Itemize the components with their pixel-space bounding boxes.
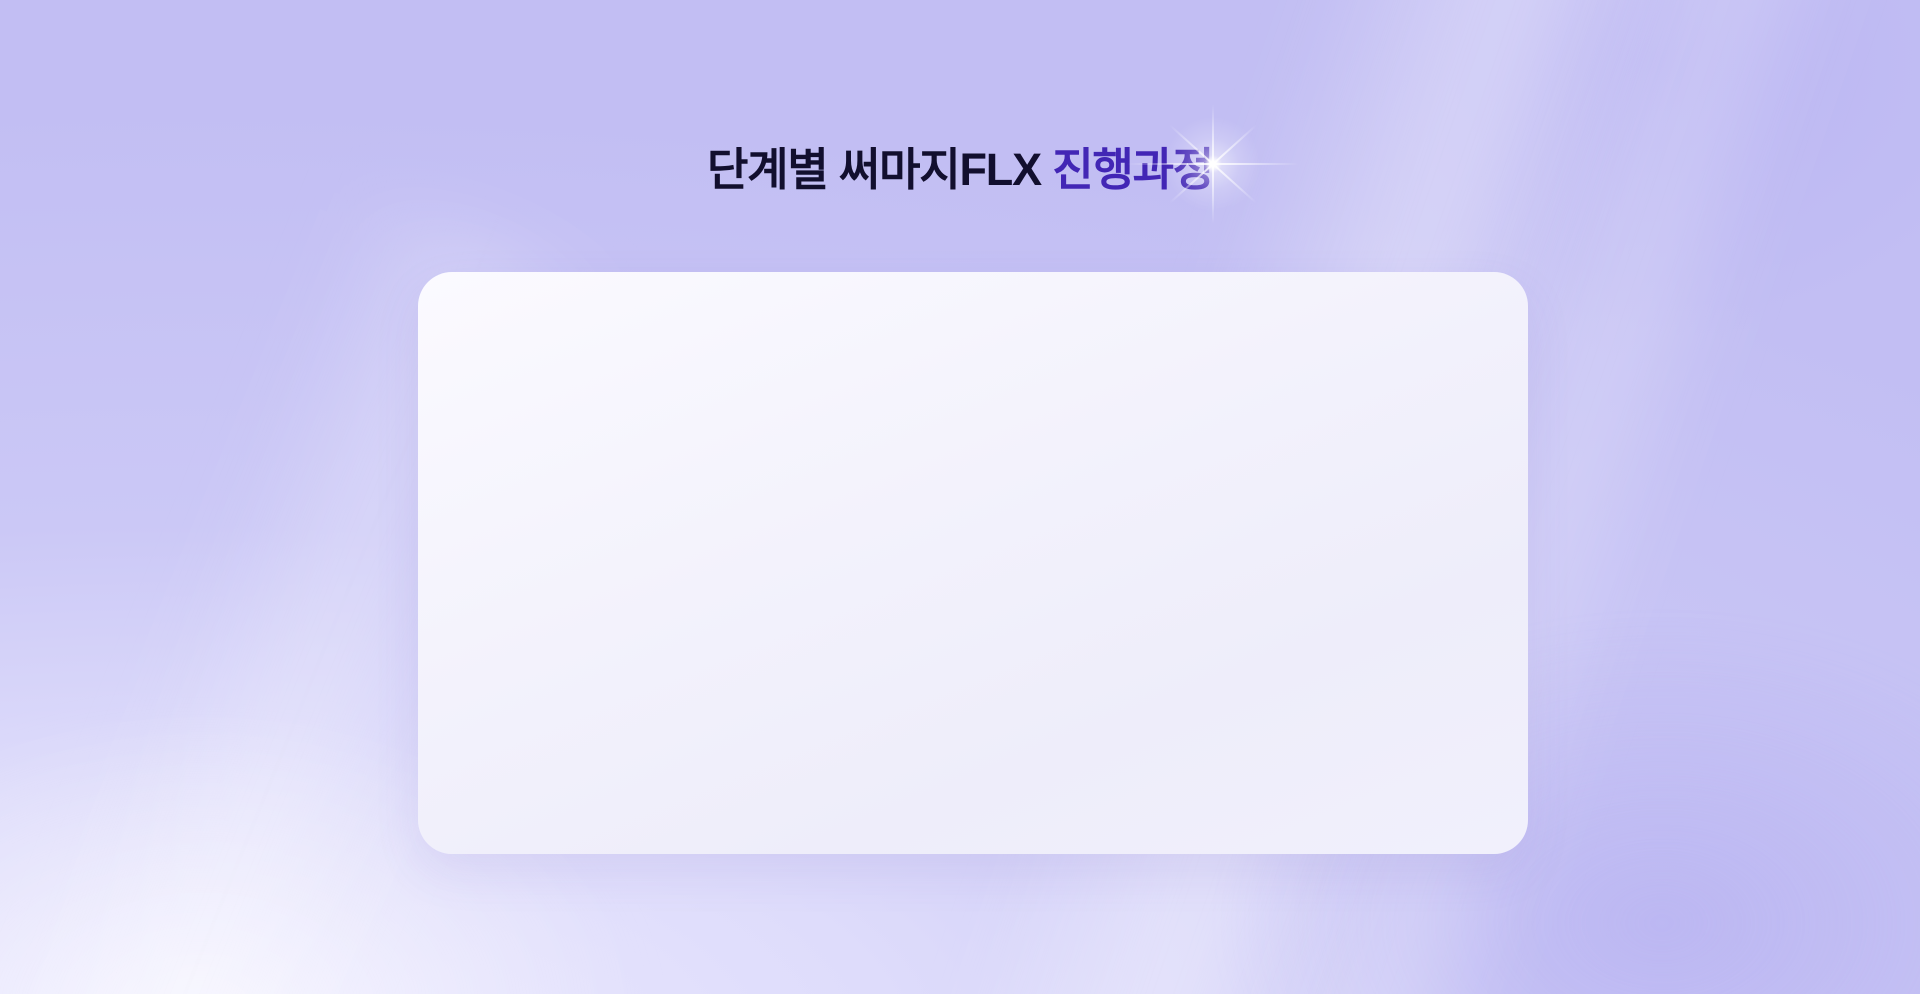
page-title: 단계별 써마지FLX 진행과정 (707, 142, 1213, 198)
page-title-accent: 진행과정 (1052, 144, 1213, 195)
page-title-container: 단계별 써마지FLX 진행과정 (0, 142, 1920, 198)
page-title-primary: 단계별 써마지FLX (707, 144, 1041, 195)
process-card (418, 272, 1528, 854)
